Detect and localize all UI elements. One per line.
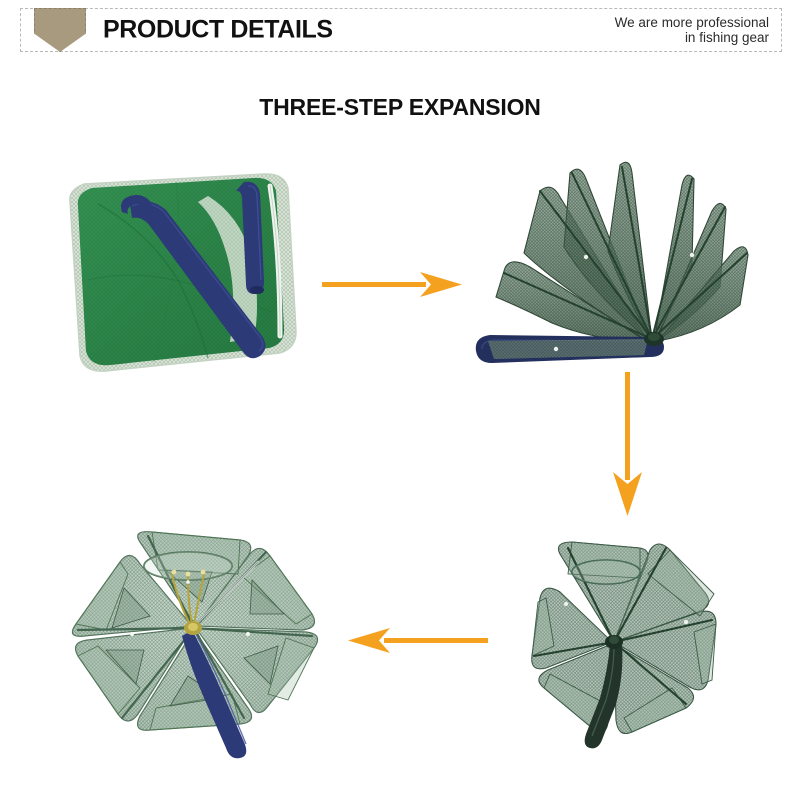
header-bar: PRODUCT DETAILS We are more professional…: [20, 8, 782, 52]
arrow-left-icon: [344, 618, 488, 664]
product-details-page: PRODUCT DETAILS We are more professional…: [0, 0, 800, 800]
arrow-down-icon: [604, 372, 652, 516]
mostly-opened-net-illustration: [490, 520, 740, 750]
step-image-folded-net: [58, 160, 318, 375]
tagline-line-1: We are more professional: [615, 15, 769, 30]
fully-opened-net-illustration: [62, 518, 330, 758]
step-image-fully-opened-net: [62, 518, 330, 758]
section-heading: THREE-STEP EXPANSION: [0, 94, 800, 121]
header-tagline: We are more professional in fishing gear: [615, 15, 769, 45]
arrow-step3-to-step4-icon: [344, 618, 488, 664]
arrow-right-icon: [322, 262, 462, 308]
folded-net-illustration: [58, 160, 318, 375]
partially-opened-net-illustration: [468, 155, 758, 375]
page-title: PRODUCT DETAILS: [103, 16, 333, 45]
step-image-partially-opened-net: [468, 155, 758, 375]
step-image-mostly-opened-net: [490, 520, 740, 750]
tagline-line-2: in fishing gear: [615, 30, 769, 45]
arrow-step1-to-step2-icon: [322, 262, 462, 308]
arrow-step2-to-step3-icon: [604, 372, 652, 516]
pentagon-shield-badge-icon: [34, 8, 86, 52]
